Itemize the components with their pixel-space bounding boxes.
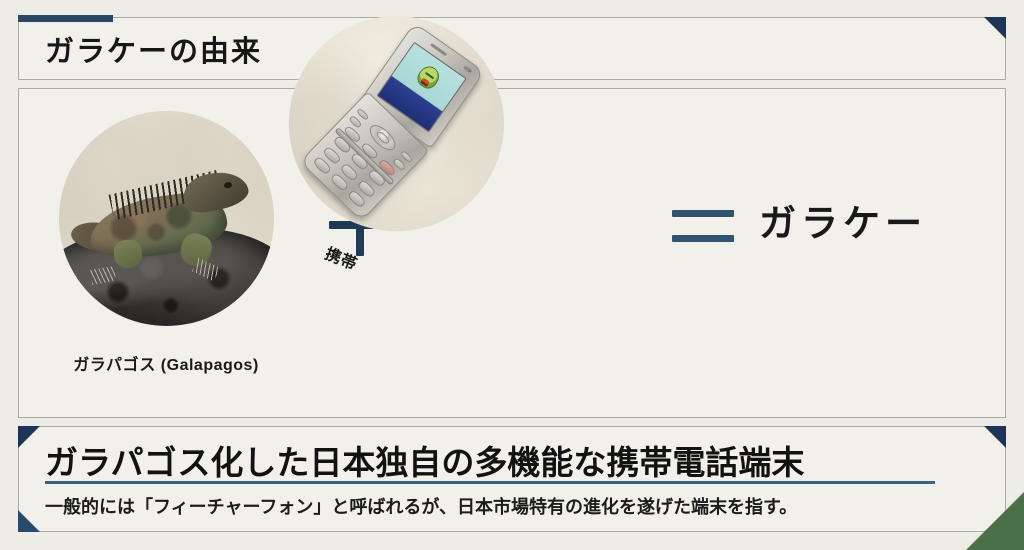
caption-galapagos: ガラパゴス (Galapagos) [41, 351, 291, 375]
phone-camera-icon [463, 64, 473, 73]
summary-headline: ガラパゴス化した日本独自の多機能な携帯電話端末 [45, 436, 804, 484]
page-title: ガラケーの由来 [45, 28, 262, 70]
equation-result: ガラケー [759, 193, 927, 247]
equals-top-bar [672, 210, 734, 217]
title-accent-bar [18, 15, 113, 22]
phone-speaker-icon [431, 42, 448, 55]
content-box: ガラパゴス (Galapagos) [18, 88, 1006, 418]
title-corner-triangle-icon [984, 17, 1006, 39]
summary-box: ガラパゴス化した日本独自の多機能な携帯電話端末 一般的には「フィーチャーフォン」… [18, 426, 1006, 532]
summary-corner-triangle-bottom-right-icon [966, 492, 1024, 550]
summary-corner-triangle-top-left-icon [18, 426, 40, 448]
equals-bottom-bar [672, 235, 734, 242]
summary-corner-triangle-bottom-left-icon [18, 510, 40, 532]
equation-row: ガラパゴス (Galapagos) [19, 89, 1005, 417]
slide-root: ガラケーの由来 ガラパゴス (Galapagos) [0, 0, 1024, 550]
summary-underline [45, 481, 935, 484]
summary-subtext: 一般的には「フィーチャーフォン」と呼ばれるが、日本市場特有の進化を遂げた端末を指… [45, 493, 797, 519]
equals-icon [659, 195, 747, 255]
summary-corner-triangle-top-right-icon [984, 426, 1006, 448]
phone-screen-mascot-icon [415, 64, 441, 91]
